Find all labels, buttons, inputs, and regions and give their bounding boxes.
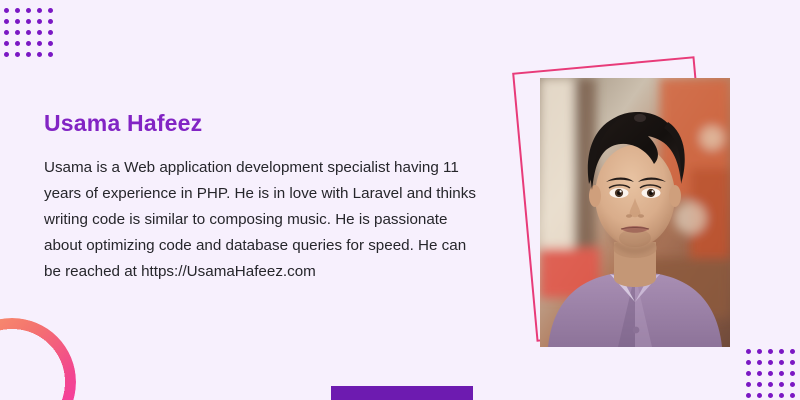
page-title: Usama Hafeez	[44, 110, 484, 137]
dot-icon	[15, 30, 20, 35]
dot-icon	[37, 8, 42, 13]
dot-icon	[15, 19, 20, 24]
dot-icon	[48, 19, 53, 24]
avatar	[540, 78, 730, 347]
dot-icon	[48, 41, 53, 46]
dot-icon	[768, 382, 773, 387]
dot-icon	[15, 52, 20, 57]
dot-icon	[26, 41, 31, 46]
dot-icon	[26, 52, 31, 57]
dot-icon	[4, 8, 9, 13]
dot-icon	[15, 41, 20, 46]
dot-icon	[26, 19, 31, 24]
dot-icon	[4, 30, 9, 35]
profile-card: Usama Hafeez Usama is a Web application …	[0, 0, 800, 400]
dot-icon	[4, 19, 9, 24]
dot-icon	[48, 8, 53, 13]
dot-icon	[37, 30, 42, 35]
profile-text-block: Usama Hafeez Usama is a Web application …	[44, 110, 484, 285]
dot-icon	[779, 393, 784, 398]
gradient-ring-decoration	[0, 318, 76, 400]
dot-icon	[757, 382, 762, 387]
dot-icon	[779, 382, 784, 387]
dot-icon	[37, 41, 42, 46]
dot-icon	[790, 393, 795, 398]
dot-icon	[757, 393, 762, 398]
dot-icon	[26, 8, 31, 13]
dot-icon	[48, 30, 53, 35]
dot-icon	[37, 52, 42, 57]
dot-grid-top-left-icon	[4, 8, 59, 63]
dot-icon	[4, 52, 9, 57]
dot-icon	[26, 30, 31, 35]
dot-icon	[746, 382, 751, 387]
dot-icon	[4, 41, 9, 46]
dot-icon	[37, 19, 42, 24]
dot-icon	[15, 8, 20, 13]
portrait-photo-area	[500, 50, 800, 380]
dot-icon	[746, 393, 751, 398]
profile-bio-text: Usama is a Web application development s…	[44, 155, 484, 285]
dot-icon	[768, 393, 773, 398]
dot-icon	[790, 382, 795, 387]
dot-icon	[48, 52, 53, 57]
bottom-accent-bar	[331, 386, 473, 400]
